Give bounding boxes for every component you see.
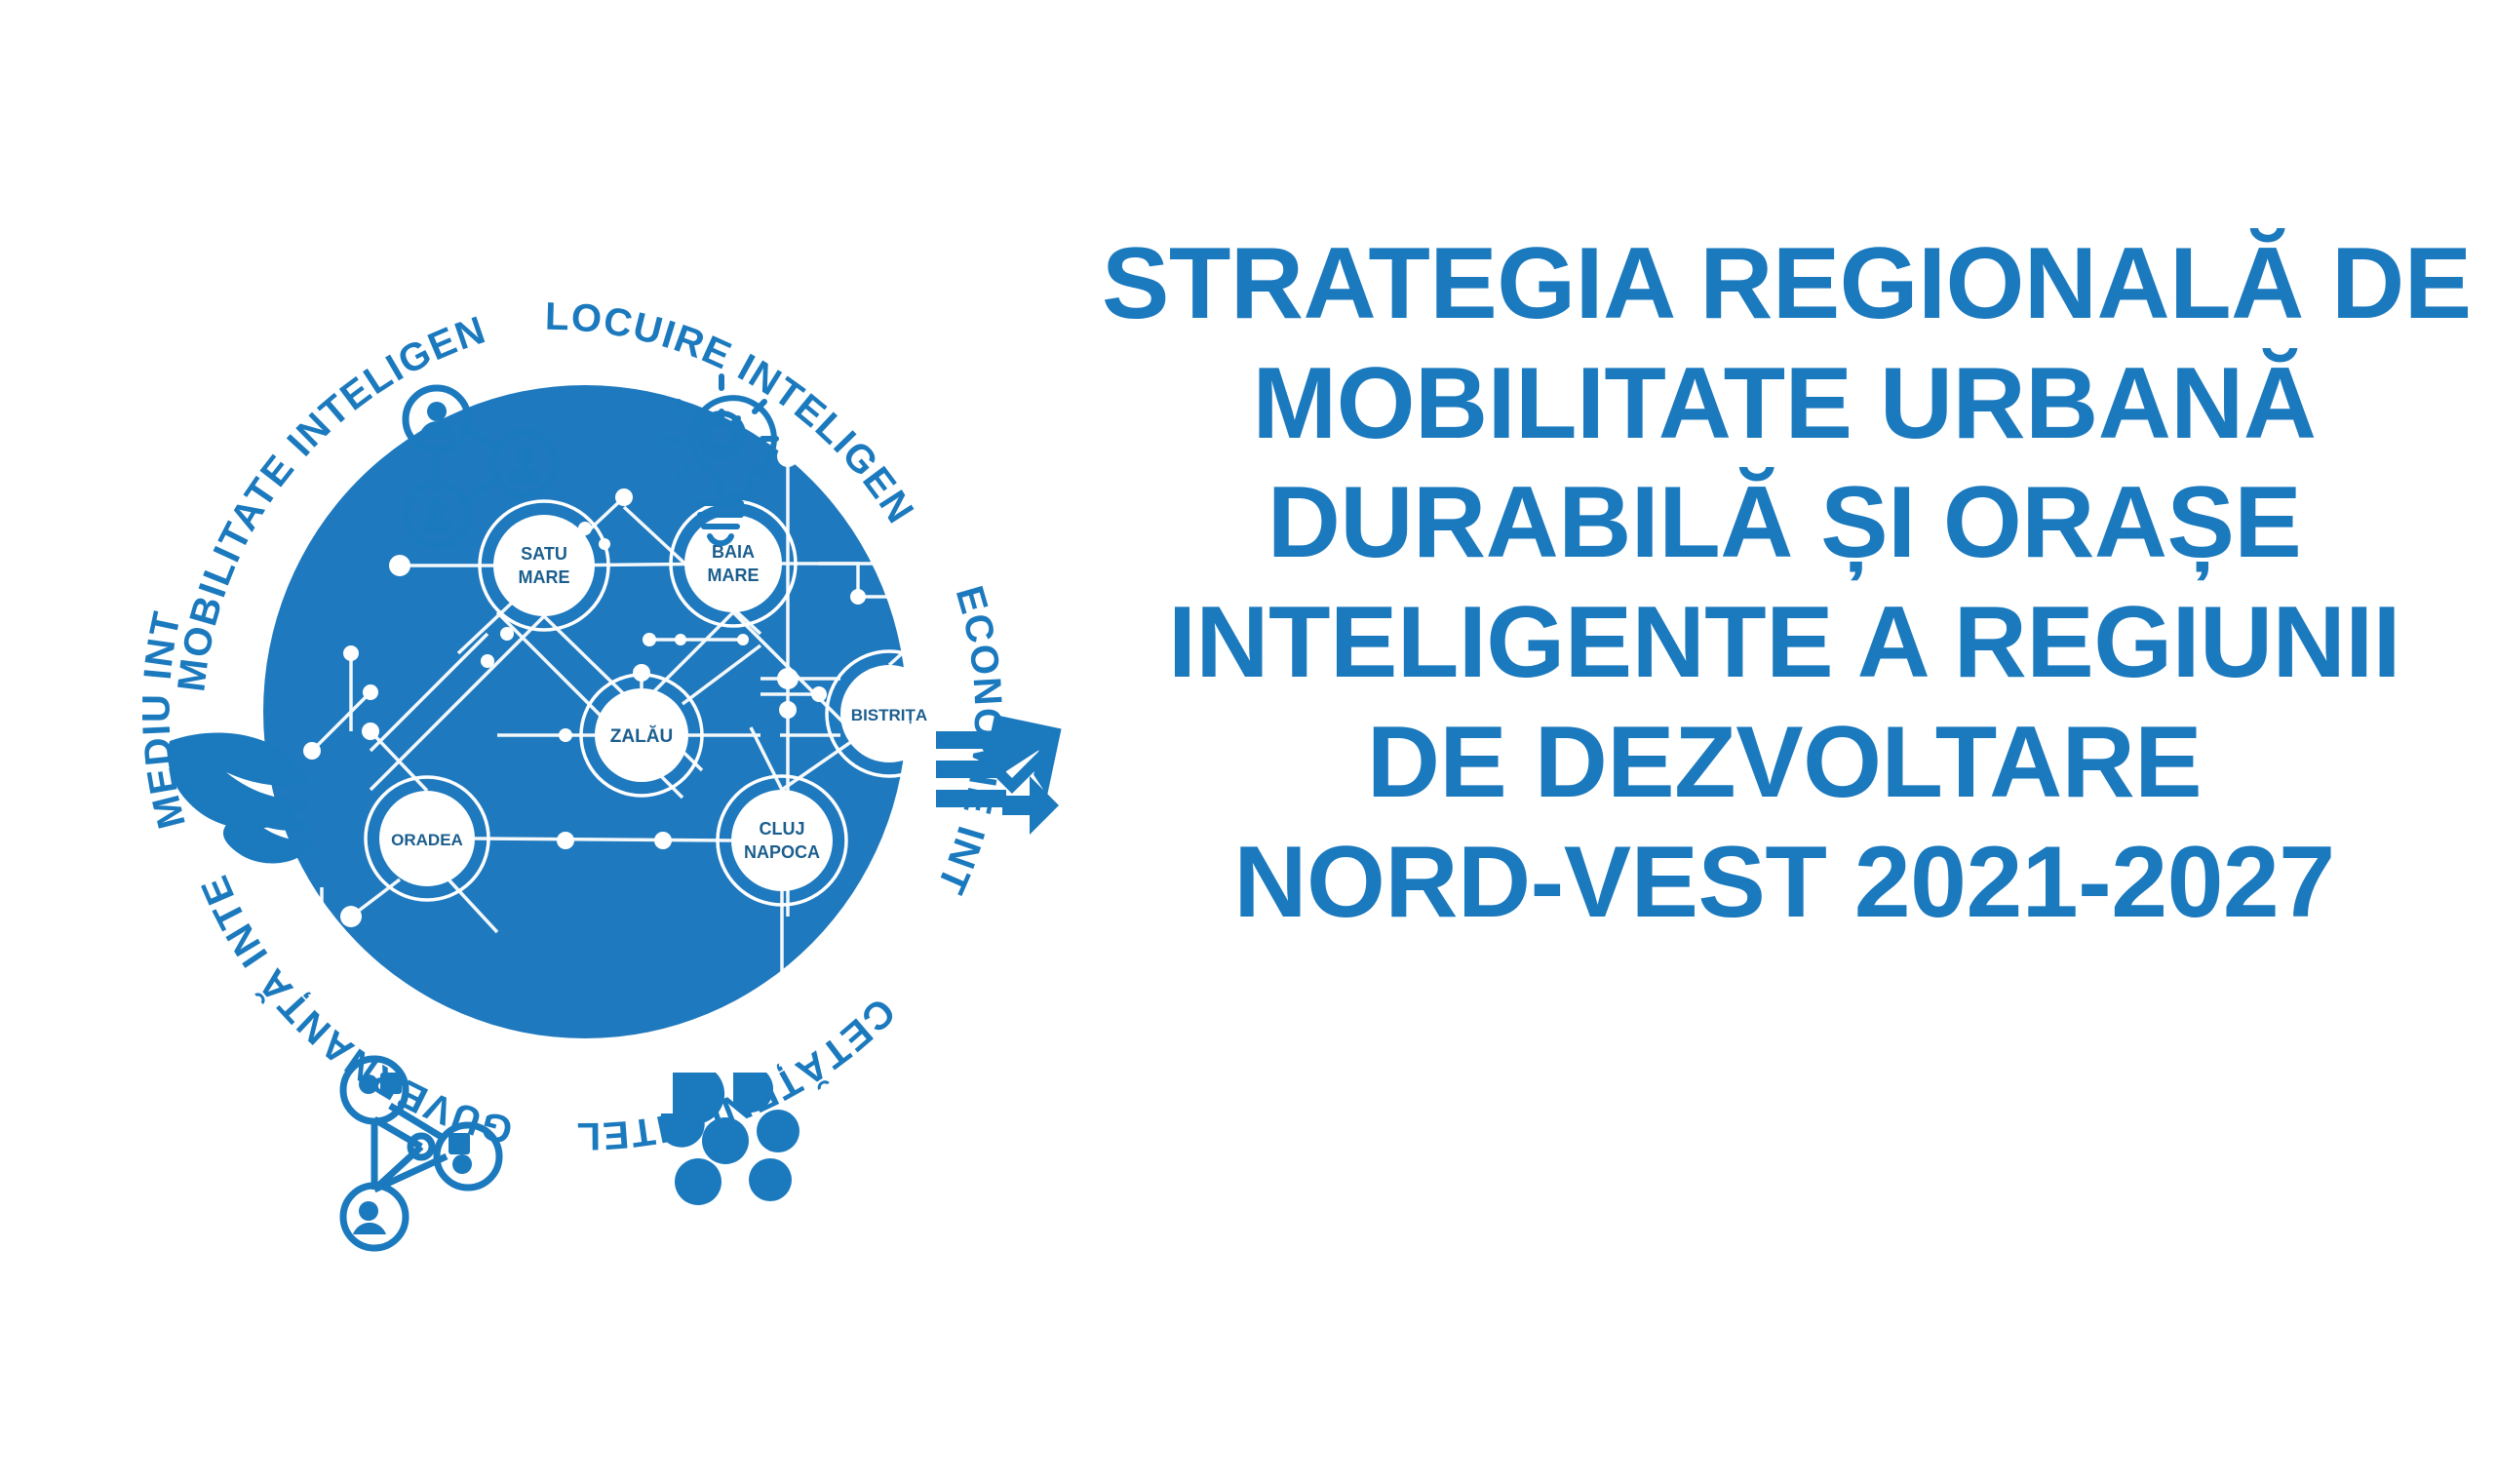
city-label: ORADEA (391, 831, 463, 849)
smart-city-wheel-graphic: SATU MARE BAIA MARE ZALĂU BISTRIȚA (78, 146, 1092, 1297)
city-label-line-2: MARE (708, 566, 760, 585)
wheel-svg: SATU MARE BAIA MARE ZALĂU BISTRIȚA (78, 146, 1092, 1297)
title-line-3: DURABILĂ ȘI ORAȘE (1102, 463, 2467, 583)
poster-canvas: SATU MARE BAIA MARE ZALĂU BISTRIȚA (0, 0, 2496, 1484)
city-node-cluj-napoca[interactable]: CLUJ NAPOCA (718, 776, 846, 905)
poster-title: STRATEGIA REGIONALĂ DE MOBILITATE URBANĂ… (1102, 224, 2467, 942)
city-node-satu-mare[interactable]: SATU MARE (480, 501, 608, 630)
city-label-line-1: CLUJ (759, 819, 804, 839)
title-line-1: STRATEGIA REGIONALĂ DE (1102, 224, 2467, 344)
city-node-oradea[interactable]: ORADEA (366, 777, 488, 900)
city-label-line-1: SATU (521, 544, 567, 564)
city-label-line-2: NAPOCA (744, 842, 820, 862)
city-label: BISTRIȚA (851, 706, 927, 724)
city-disc (731, 790, 833, 891)
title-line-2: MOBILITATE URBANĂ (1102, 344, 2467, 464)
pillar-label-mediu: MEDIU INTELIGENT (78, 146, 194, 833)
city-label-line-2: MARE (519, 567, 570, 587)
city-disc (493, 515, 595, 616)
title-line-4: INTELIGENTE A REGIUNII (1102, 583, 2467, 703)
title-line-6: NORD-VEST 2021-2027 (1102, 823, 2467, 943)
city-node-bistrita[interactable]: BISTRIȚA (827, 651, 952, 776)
title-line-5: DE DEZVOLTARE (1102, 703, 2467, 823)
city-label: ZALĂU (610, 725, 673, 747)
city-node-baia-mare[interactable]: BAIA MARE (671, 501, 796, 626)
city-node-zalau[interactable]: ZALĂU (581, 675, 702, 796)
